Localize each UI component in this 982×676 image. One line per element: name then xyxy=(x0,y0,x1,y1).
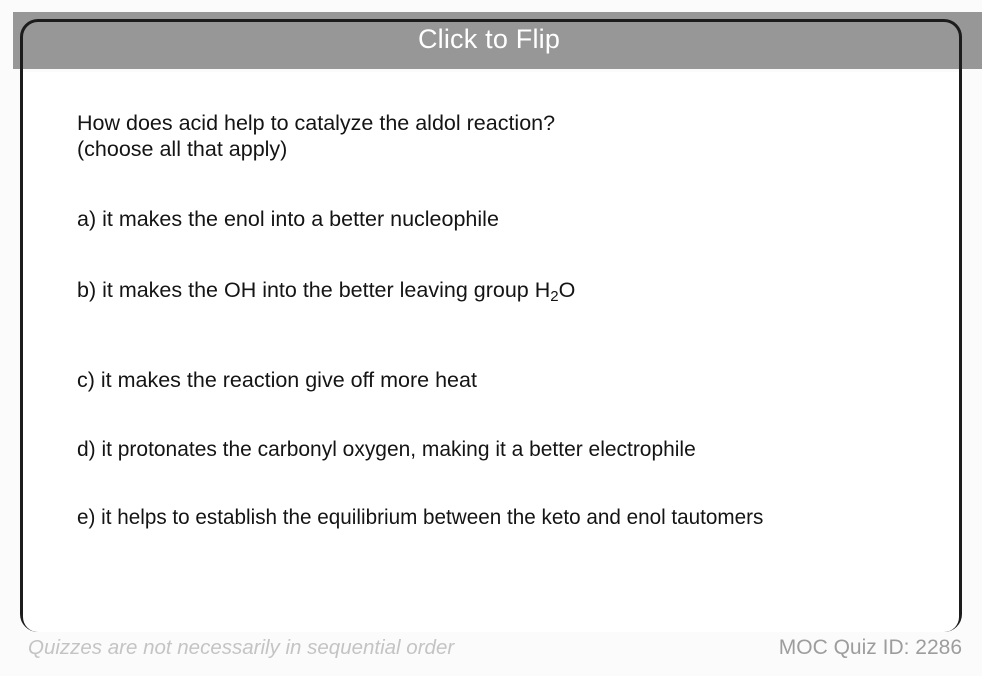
footer-note: Quizzes are not necessarily in sequentia… xyxy=(28,636,454,660)
answer-option-b-text-after: O xyxy=(559,278,576,302)
answer-option-b-subscript: 2 xyxy=(550,288,558,305)
question-block: How does acid help to catalyze the aldol… xyxy=(77,110,917,162)
quiz-content: How does acid help to catalyze the aldol… xyxy=(77,110,917,530)
footer: Quizzes are not necessarily in sequentia… xyxy=(0,636,982,676)
answer-option-b-text-before: b) it makes the OH into the better leavi… xyxy=(77,278,550,302)
answer-option-a[interactable]: a) it makes the enol into a better nucle… xyxy=(77,206,917,232)
quiz-id-label: MOC Quiz ID: 2286 xyxy=(779,636,962,660)
flashcard-stage: Click to Flip How does acid help to cata… xyxy=(0,0,982,676)
question-line-1: How does acid help to catalyze the aldol… xyxy=(77,110,917,136)
answer-option-c[interactable]: c) it makes the reaction give off more h… xyxy=(77,367,917,393)
answer-option-b[interactable]: b) it makes the OH into the better leavi… xyxy=(77,277,917,310)
answer-option-d[interactable]: d) it protonates the carbonyl oxygen, ma… xyxy=(77,436,896,462)
answer-option-e[interactable]: e) it helps to establish the equilibrium… xyxy=(77,504,885,530)
question-line-2: (choose all that apply) xyxy=(77,136,917,162)
